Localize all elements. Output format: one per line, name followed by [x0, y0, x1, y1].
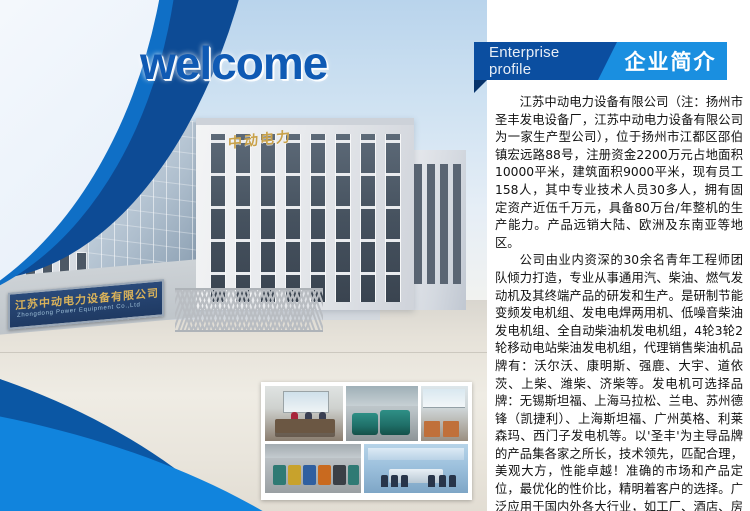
left-visual-panel: 中动电力 江苏中动电力设备有限公司 Zhongdong Power Equipm… [0, 0, 487, 511]
facade-window-column [235, 134, 251, 302]
facade-window-column [385, 134, 401, 302]
facade-window-column [285, 134, 301, 302]
generator-warehouse-photo: 机组仓库 [265, 444, 361, 493]
section-ribbon: Enterprise profile 企业简介 [474, 42, 727, 80]
ribbon-chinese-part: 企业简介 [598, 42, 727, 80]
welcome-title: welcome [140, 36, 327, 90]
facade-window-column [260, 134, 276, 302]
collage-row-top: 办公会议室 发电机组车间 办公大厅 [265, 386, 468, 441]
company-profile-banner: 中动电力 江苏中动电力设备有限公司 Zhongdong Power Equipm… [0, 0, 750, 511]
ribbon-chinese-label: 企业简介 [625, 46, 717, 76]
collage-row-bottom: 机组仓库 会议室 [265, 444, 468, 493]
office-interior-photo: 办公大厅 [421, 386, 468, 441]
right-tower-building [408, 150, 466, 310]
facade-window-column [310, 134, 326, 302]
conference-room-photo: 会议室 [364, 444, 468, 493]
generator-workshop-photo: 发电机组车间 [346, 386, 418, 441]
facade-window-column [360, 134, 376, 302]
retractable-gate [175, 288, 323, 332]
facade-window-column [335, 134, 351, 302]
ribbon-fold-tail [474, 80, 487, 93]
profile-paragraph-2: 公司由业内资深的30余名青年工程师团队倾力打造，专业从事通用汽、柴油、燃气发动机… [495, 252, 743, 511]
ribbon-english-label: Enterprise profile [489, 44, 598, 78]
right-text-panel: Enterprise profile 企业简介 江苏中动电力设备有限公司（注：扬… [487, 0, 750, 511]
meeting-room-photo: 办公会议室 [265, 386, 343, 441]
facade-window-column [210, 134, 226, 302]
photo-collage: 办公会议室 发电机组车间 办公大厅 [261, 382, 472, 500]
ribbon-english-part: Enterprise profile [474, 42, 598, 80]
company-profile-text: 江苏中动电力设备有限公司（注：扬州市圣丰发电设备厂，江苏中动电力设备有限公司为一… [495, 94, 743, 511]
profile-paragraph-1: 江苏中动电力设备有限公司（注：扬州市圣丰发电设备厂，江苏中动电力设备有限公司为一… [495, 94, 743, 252]
